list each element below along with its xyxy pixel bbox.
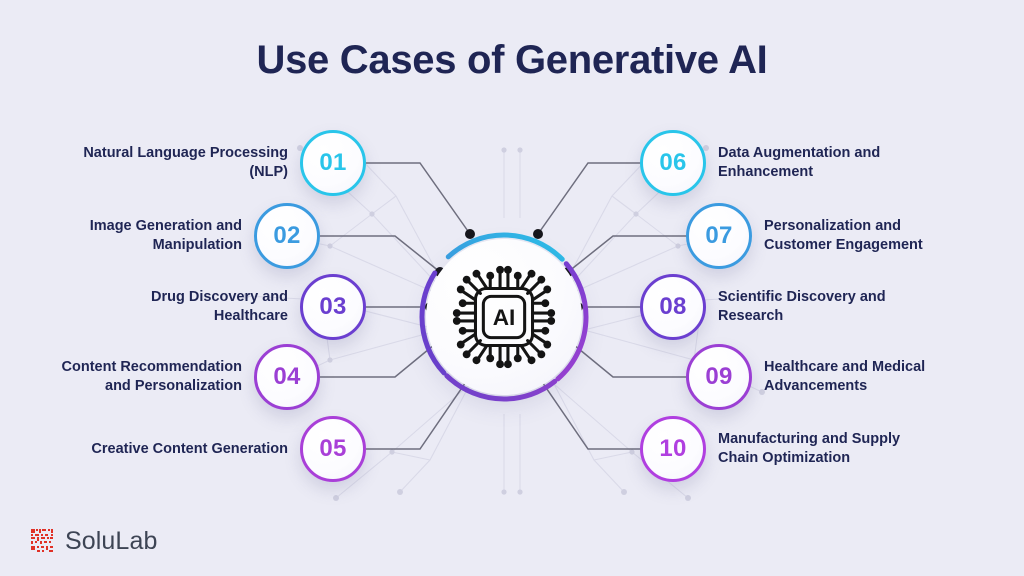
label-03: Drug Discovery and Healthcare	[68, 288, 288, 326]
label-05: Creative Content Generation	[58, 440, 288, 459]
label-06-line-1: Data Augmentation and	[718, 144, 968, 163]
node-03[interactable]: 03	[300, 274, 366, 340]
node-number-07: 07	[705, 224, 732, 248]
node-05[interactable]: 05	[300, 416, 366, 482]
node-07[interactable]: 07	[686, 203, 752, 269]
node-number-03: 03	[319, 295, 346, 319]
node-number-09: 09	[705, 365, 732, 389]
label-01-line-1: Natural Language Processing	[50, 144, 288, 163]
label-01: Natural Language Processing (NLP)	[50, 144, 288, 182]
label-09-line-2: Advancements	[764, 377, 1012, 396]
node-number-04: 04	[273, 365, 300, 389]
node-number-10: 10	[659, 437, 686, 461]
infographic-canvas: Use Cases of Generative AI	[0, 0, 1024, 576]
node-04[interactable]: 04	[254, 344, 320, 410]
solulab-qr-mark	[30, 528, 56, 554]
label-02: Image Generation and Manipulation	[42, 217, 242, 255]
node-08[interactable]: 08	[640, 274, 706, 340]
label-04: Content Recommendation and Personalizati…	[24, 358, 242, 396]
node-number-08: 08	[659, 295, 686, 319]
node-09[interactable]: 09	[686, 344, 752, 410]
label-02-line-1: Image Generation and	[42, 217, 242, 236]
ai-chip-icon: AI	[445, 258, 563, 376]
node-number-05: 05	[319, 437, 346, 461]
label-06: Data Augmentation and Enhancement	[718, 144, 968, 182]
label-09: Healthcare and Medical Advancements	[764, 358, 1012, 396]
brand-logo[interactable]: SoluLab	[30, 528, 157, 554]
label-08: Scientific Discovery and Research	[718, 288, 968, 326]
node-number-06: 06	[659, 151, 686, 175]
label-04-line-1: Content Recommendation	[24, 358, 242, 377]
label-08-line-2: Research	[718, 307, 968, 326]
label-07: Personalization and Customer Engagement	[764, 217, 1012, 255]
label-04-line-2: and Personalization	[24, 377, 242, 396]
center-hub: AI	[415, 228, 593, 406]
label-08-line-1: Scientific Discovery and	[718, 288, 968, 307]
label-01-line-2: (NLP)	[50, 163, 288, 182]
node-01[interactable]: 01	[300, 130, 366, 196]
label-07-line-1: Personalization and	[764, 217, 1012, 236]
chip-label: AI	[493, 305, 516, 330]
label-10-line-2: Chain Optimization	[718, 449, 968, 468]
node-02[interactable]: 02	[254, 203, 320, 269]
label-03-line-2: Healthcare	[68, 307, 288, 326]
label-09-line-1: Healthcare and Medical	[764, 358, 1012, 377]
label-02-line-2: Manipulation	[42, 236, 242, 255]
node-10[interactable]: 10	[640, 416, 706, 482]
brand-name: SoluLab	[65, 529, 157, 554]
label-03-line-1: Drug Discovery and	[68, 288, 288, 307]
node-06[interactable]: 06	[640, 130, 706, 196]
node-number-02: 02	[273, 224, 300, 248]
label-05-line-1: Creative Content Generation	[58, 440, 288, 459]
page-title: Use Cases of Generative AI	[0, 38, 1024, 82]
node-number-01: 01	[319, 151, 346, 175]
label-06-line-2: Enhancement	[718, 163, 968, 182]
label-10-line-1: Manufacturing and Supply	[718, 430, 968, 449]
label-07-line-2: Customer Engagement	[764, 236, 1012, 255]
label-10: Manufacturing and Supply Chain Optimizat…	[718, 430, 968, 468]
